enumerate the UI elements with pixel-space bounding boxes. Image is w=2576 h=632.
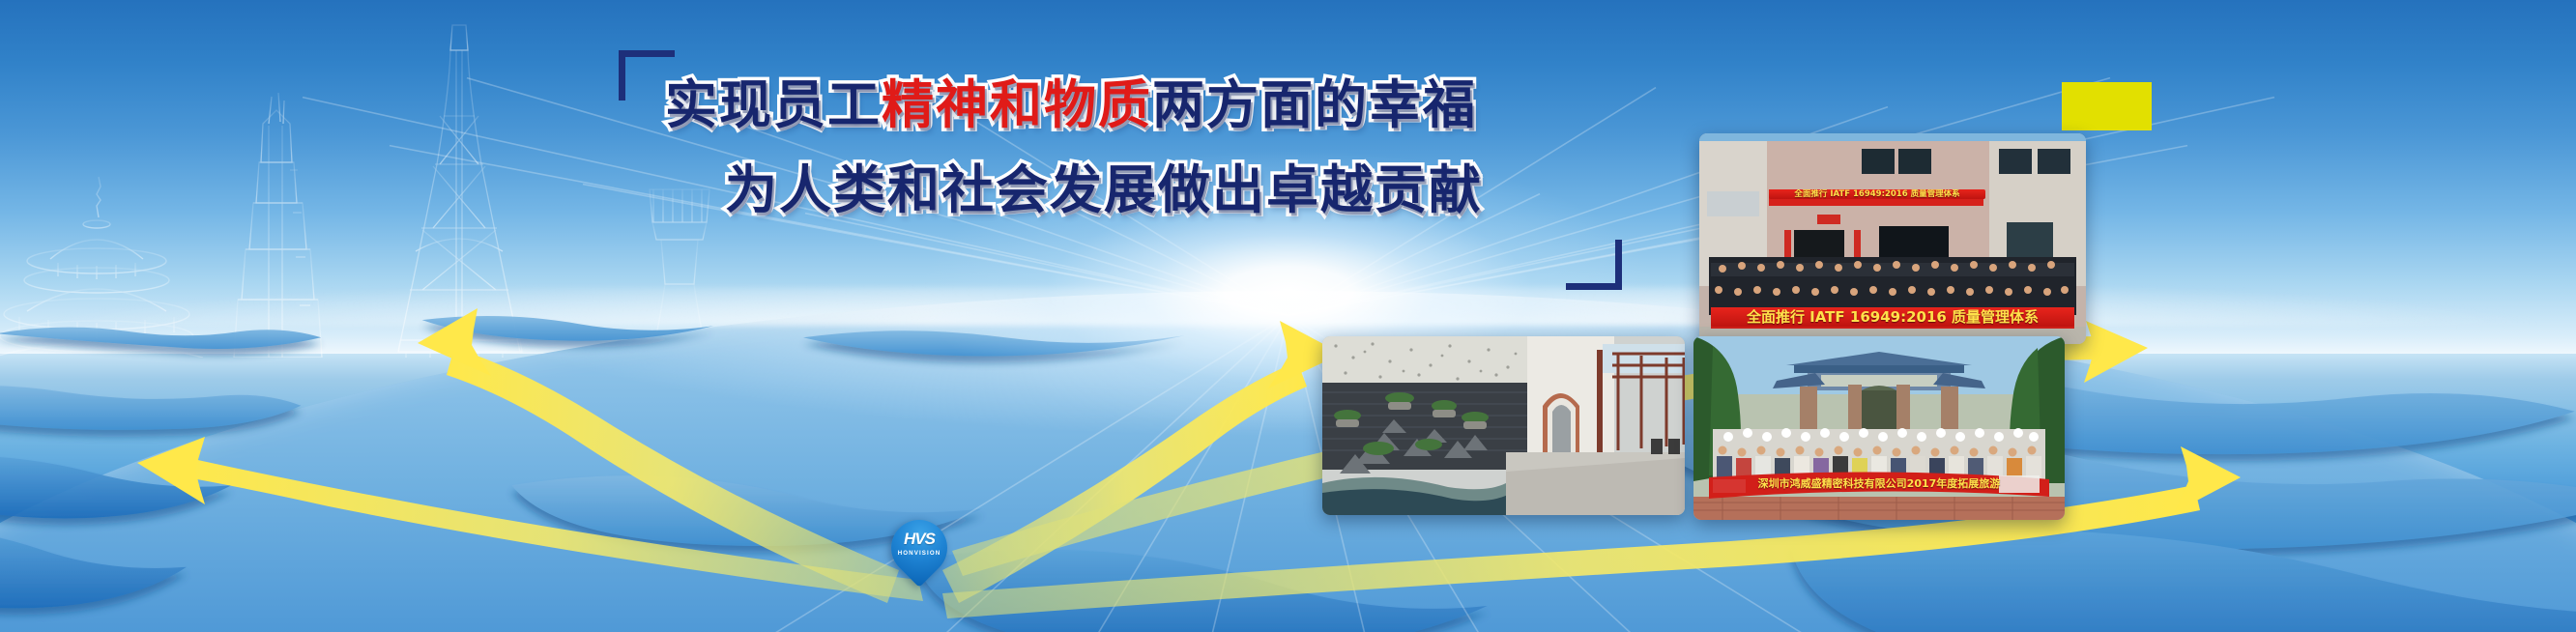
slogan-line2-part-1: 为人类和社会发展做出卓越贡献 <box>725 147 1483 223</box>
globe-continents <box>0 291 2576 632</box>
corporate-banner: HVS HONVISION 实现员工精神和物质两方面的幸福 为人类和社会发展做出… <box>0 0 2576 632</box>
photo-company-outing[interactable]: 深圳市鸿威盛精密科技有限公司2017年度拓展旅游 <box>1693 336 2065 520</box>
photo-courtyard-garden[interactable] <box>1322 336 1685 515</box>
photo1-top-banner-caption: 全面推行 IATF 16949:2016 质量管理体系 <box>1769 189 1985 199</box>
pin-logo-text: HVS HONVISION <box>891 530 947 557</box>
bracket-bottom-right <box>1566 240 1622 290</box>
slogan-line1-part-1: 实现员工 <box>665 62 882 138</box>
slogan-line-2: 为人类和社会发展做出卓越贡献 <box>725 147 1483 223</box>
slogan-block: 实现员工精神和物质两方面的幸福 为人类和社会发展做出卓越贡献 <box>580 41 1643 282</box>
logo-name: HONVISION <box>891 550 947 557</box>
slogan-line1-part-2: 精神和物质 <box>882 62 1152 138</box>
photo1-bottom-banner-caption: 全面推行 IATF 16949:2016 质量管理体系 <box>1711 307 2074 327</box>
honvision-location-pin[interactable]: HVS HONVISION <box>891 520 947 589</box>
logo-mark: HVS <box>891 530 947 549</box>
slogan-line1-part-3: 两方面的幸福 <box>1152 62 1477 138</box>
photo3-bottom-banner-caption: 深圳市鸿威盛精密科技有限公司2017年度拓展旅游 <box>1712 477 2046 491</box>
yellow-accent-rect <box>2062 82 2152 130</box>
slogan-line-1: 实现员工精神和物质两方面的幸福 <box>665 62 1477 138</box>
photo-iatf-group[interactable]: 全面推行 IATF 16949:2016 质量管理体系 全面推行 IATF 16… <box>1699 133 2086 344</box>
